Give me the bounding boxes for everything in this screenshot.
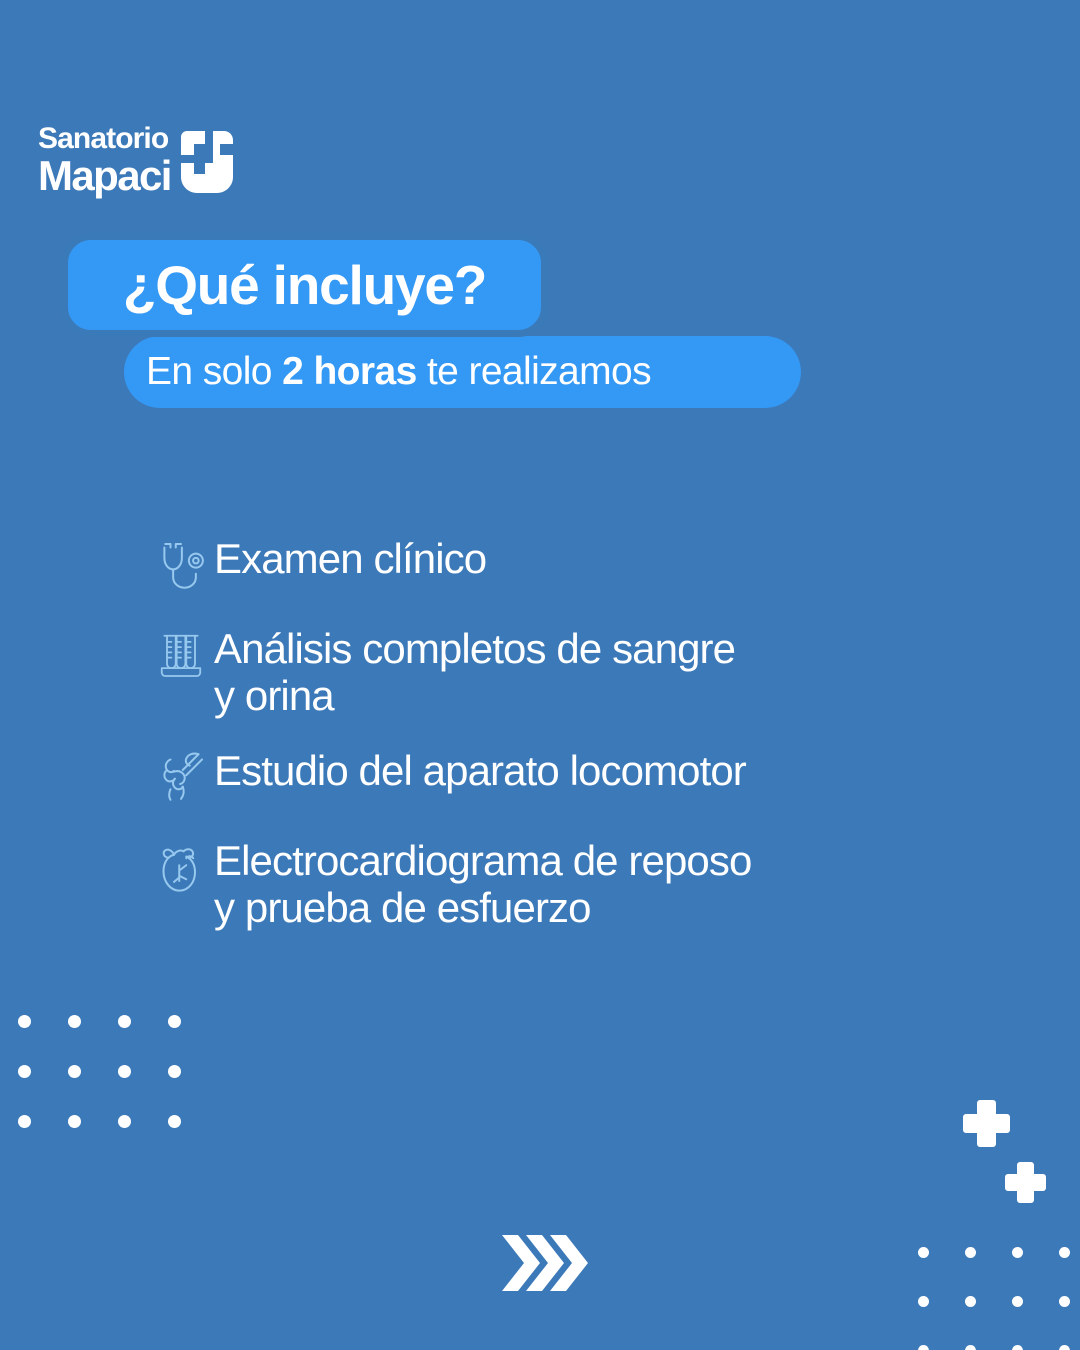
dot [118, 1065, 131, 1078]
stethoscope-icon [148, 533, 214, 597]
triple-chevron-right-icon [500, 1235, 590, 1291]
dot [965, 1247, 976, 1258]
page-title: ¿Qué incluye? [123, 253, 486, 317]
brand-line-top: Sanatorio [38, 124, 171, 154]
dot [1012, 1296, 1023, 1307]
dot [965, 1345, 976, 1350]
brand-wordmark: Sanatorio Mapaci [38, 124, 171, 197]
list-item: Estudio del aparato locomotor [148, 745, 978, 809]
plus-cross-icon [1005, 1162, 1046, 1203]
dot [68, 1065, 81, 1078]
dot [918, 1247, 929, 1258]
list-item: Análisis completos de sangre y orina [148, 623, 978, 719]
brand-logo: Sanatorio Mapaci [38, 124, 233, 197]
dot [1059, 1345, 1070, 1350]
brand-line-bottom: Mapaci [38, 155, 171, 197]
list-item-label: Estudio del aparato locomotor [214, 745, 746, 794]
list-item-label: Examen clínico [214, 533, 486, 582]
dot [118, 1115, 131, 1128]
dot [68, 1115, 81, 1128]
dot [18, 1015, 31, 1028]
anatomical-heart-icon [148, 835, 214, 899]
dot [118, 1015, 131, 1028]
subtitle-pill: En solo 2 horas te realizamos [124, 336, 801, 408]
feature-list: Examen clínico Análisis completos de san… [148, 533, 978, 957]
decorative-dot-grid-bottom-right [918, 1247, 1070, 1350]
subtitle-prefix: En solo [146, 350, 282, 393]
list-item-label: Electrocardiograma de reposo y prueba de… [214, 835, 751, 931]
subtitle-text: En solo 2 horas te realizamos [146, 350, 651, 394]
title-pill: ¿Qué incluye? [61, 233, 548, 337]
list-item: Electrocardiograma de reposo y prueba de… [148, 835, 978, 931]
test-tubes-icon [148, 623, 214, 687]
dot [68, 1015, 81, 1028]
list-item: Examen clínico [148, 533, 978, 597]
dot [1059, 1247, 1070, 1258]
dot [168, 1065, 181, 1078]
dot [1059, 1296, 1070, 1307]
subtitle-highlight: 2 horas [282, 350, 417, 393]
dot [965, 1296, 976, 1307]
subtitle-suffix: te realizamos [417, 350, 651, 393]
list-item-label: Análisis completos de sangre y orina [214, 623, 735, 719]
dot [1012, 1345, 1023, 1350]
dot [18, 1065, 31, 1078]
medical-cross-square-icon [181, 131, 233, 193]
dot [18, 1115, 31, 1128]
dot [918, 1345, 929, 1350]
poster-canvas: Sanatorio Mapaci En solo 2 horas te real… [0, 0, 1080, 1350]
knee-joint-icon [148, 745, 214, 809]
dot [168, 1115, 181, 1128]
decorative-dot-grid-left [18, 1015, 181, 1128]
plus-cross-icon [963, 1100, 1010, 1147]
dot [1012, 1247, 1023, 1258]
dot [918, 1296, 929, 1307]
dot [168, 1015, 181, 1028]
